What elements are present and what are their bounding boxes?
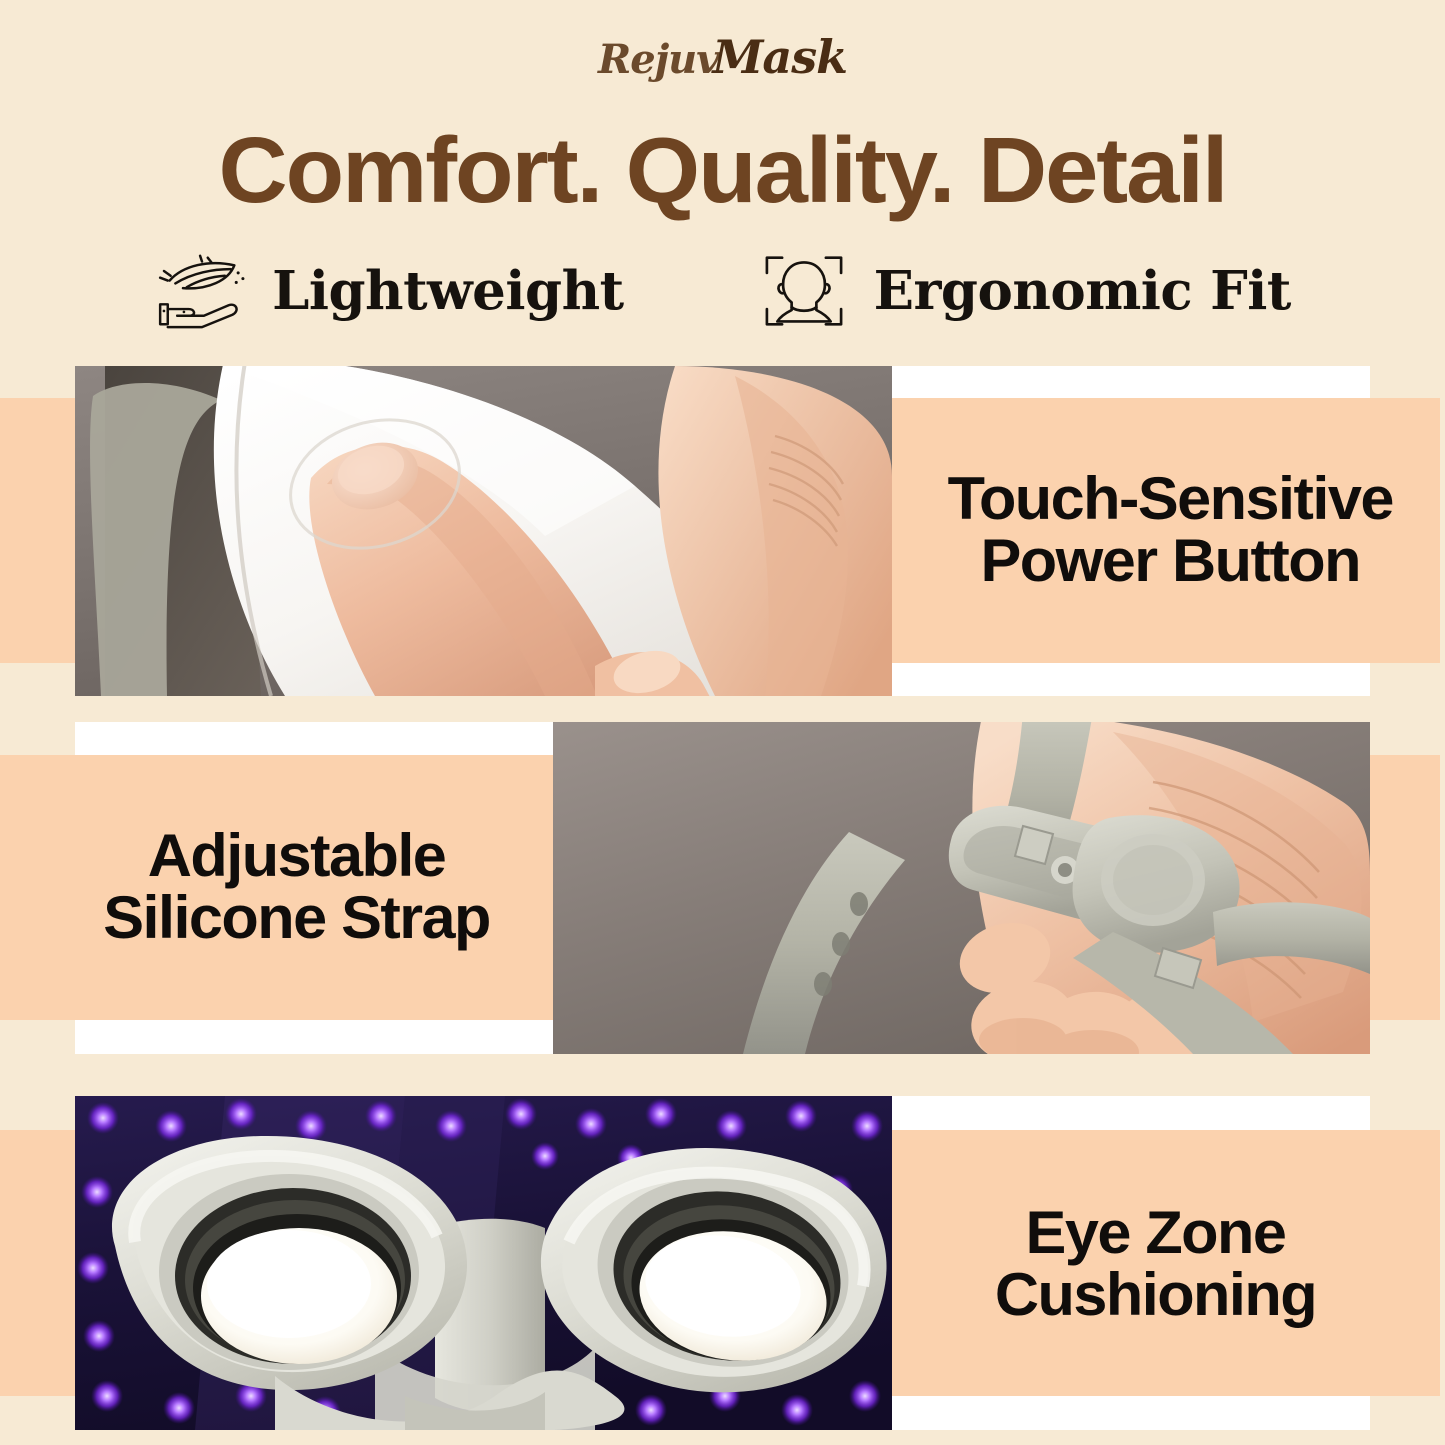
badge-label: Lightweight: [272, 260, 624, 322]
caption-line-2: Power Button: [947, 530, 1392, 592]
feather-in-hand-icon: [154, 252, 250, 330]
feature-caption-power-button: Touch-Sensitive Power Button: [900, 415, 1440, 645]
feature-row-power-button: Touch-Sensitive Power Button: [0, 355, 1445, 700]
badge-ergonomic-fit: Ergonomic Fit: [756, 252, 1291, 330]
badge-label: Ergonomic Fit: [874, 260, 1291, 322]
feature-row-eye-cushioning: Eye Zone Cushioning: [0, 1088, 1445, 1438]
caption-line-1: Touch-Sensitive: [947, 468, 1392, 530]
feature-row-silicone-strap: Adjustable Silicone Strap: [0, 712, 1445, 1059]
brand-logo-secondary: Mask: [713, 30, 848, 84]
page-title: Comfort. Quality. Detail: [0, 122, 1445, 218]
caption-line-2: Silicone Strap: [104, 887, 491, 949]
brand-logo-primary: Rejuv: [598, 36, 719, 83]
caption-line-2: Cushioning: [994, 1264, 1315, 1326]
feature-caption-eye-cushioning: Eye Zone Cushioning: [905, 1146, 1405, 1381]
caption-line-1: Eye Zone: [994, 1202, 1315, 1264]
caption-line-1: Adjustable: [104, 825, 491, 887]
feature-photo-power-button: [75, 366, 892, 696]
brand-logo: RejuvMask: [0, 30, 1445, 84]
badge-lightweight: Lightweight: [154, 252, 624, 330]
infographic-page: RejuvMask Comfort. Quality. Detail: [0, 0, 1445, 1445]
feature-photo-silicone-strap: [553, 722, 1370, 1054]
feature-photo-eye-cushioning: [75, 1096, 892, 1430]
face-scan-icon: [756, 252, 852, 330]
feature-caption-silicone-strap: Adjustable Silicone Strap: [62, 772, 532, 1002]
badge-row: Lightweight Ergonomic Fit: [0, 243, 1445, 338]
